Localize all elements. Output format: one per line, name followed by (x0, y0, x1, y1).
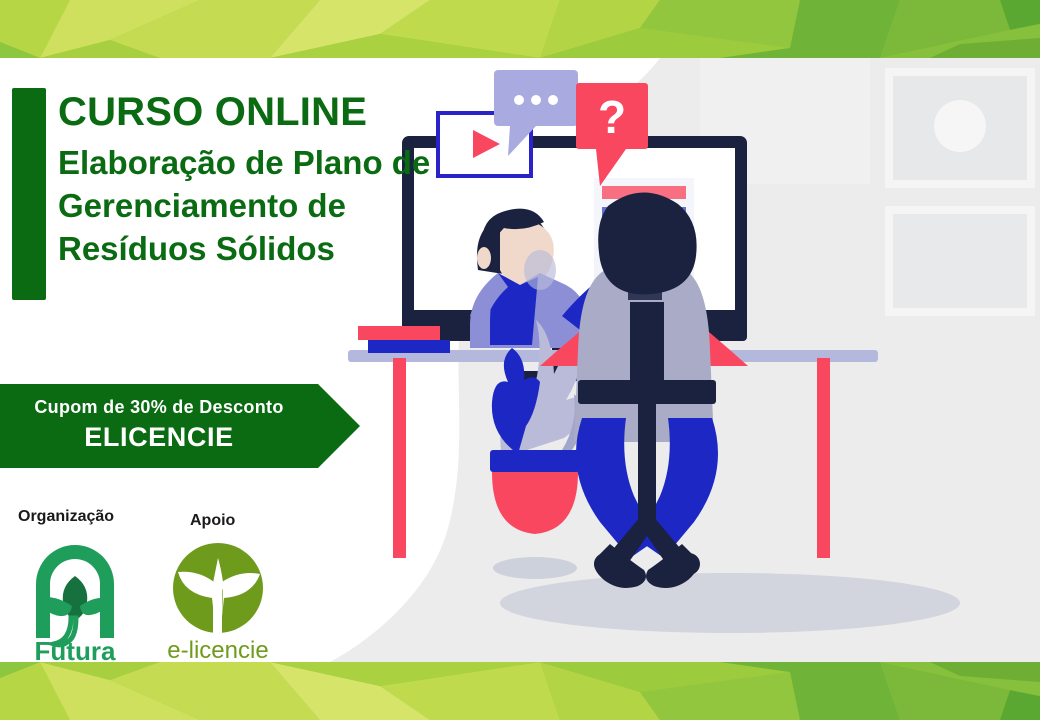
partner-role-organizacao: Organização (18, 508, 114, 526)
title-line-3: Resíduos Sólidos (58, 228, 528, 271)
page-title: Elaboração de Plano de Gerenciamento de … (58, 142, 528, 271)
svg-text:?: ? (598, 91, 626, 143)
elicencie-logo-text: e-licencie (167, 637, 268, 662)
stacked-books (358, 326, 450, 353)
title-block: CURSO ONLINE Elaboração de Plano de Gere… (58, 92, 528, 271)
futura-logo[interactable]: Futura (22, 540, 128, 662)
course-kicker: CURSO ONLINE (58, 92, 528, 132)
course-promo-banner: ? (0, 0, 1040, 720)
title-line-1: Elaboração de Plano de (58, 142, 528, 185)
top-decorative-band (0, 0, 1040, 58)
title-accent-bar (12, 88, 46, 300)
coupon-arrow-shape[interactable] (0, 384, 362, 468)
bottom-decorative-band (0, 662, 1040, 720)
partner-role-apoio: Apoio (190, 512, 235, 530)
floor-shadow (500, 573, 960, 633)
elicencie-logo[interactable]: e-licencie (156, 542, 280, 662)
futura-logo-text: Futura (35, 636, 116, 662)
title-line-2: Gerenciamento de (58, 185, 528, 228)
